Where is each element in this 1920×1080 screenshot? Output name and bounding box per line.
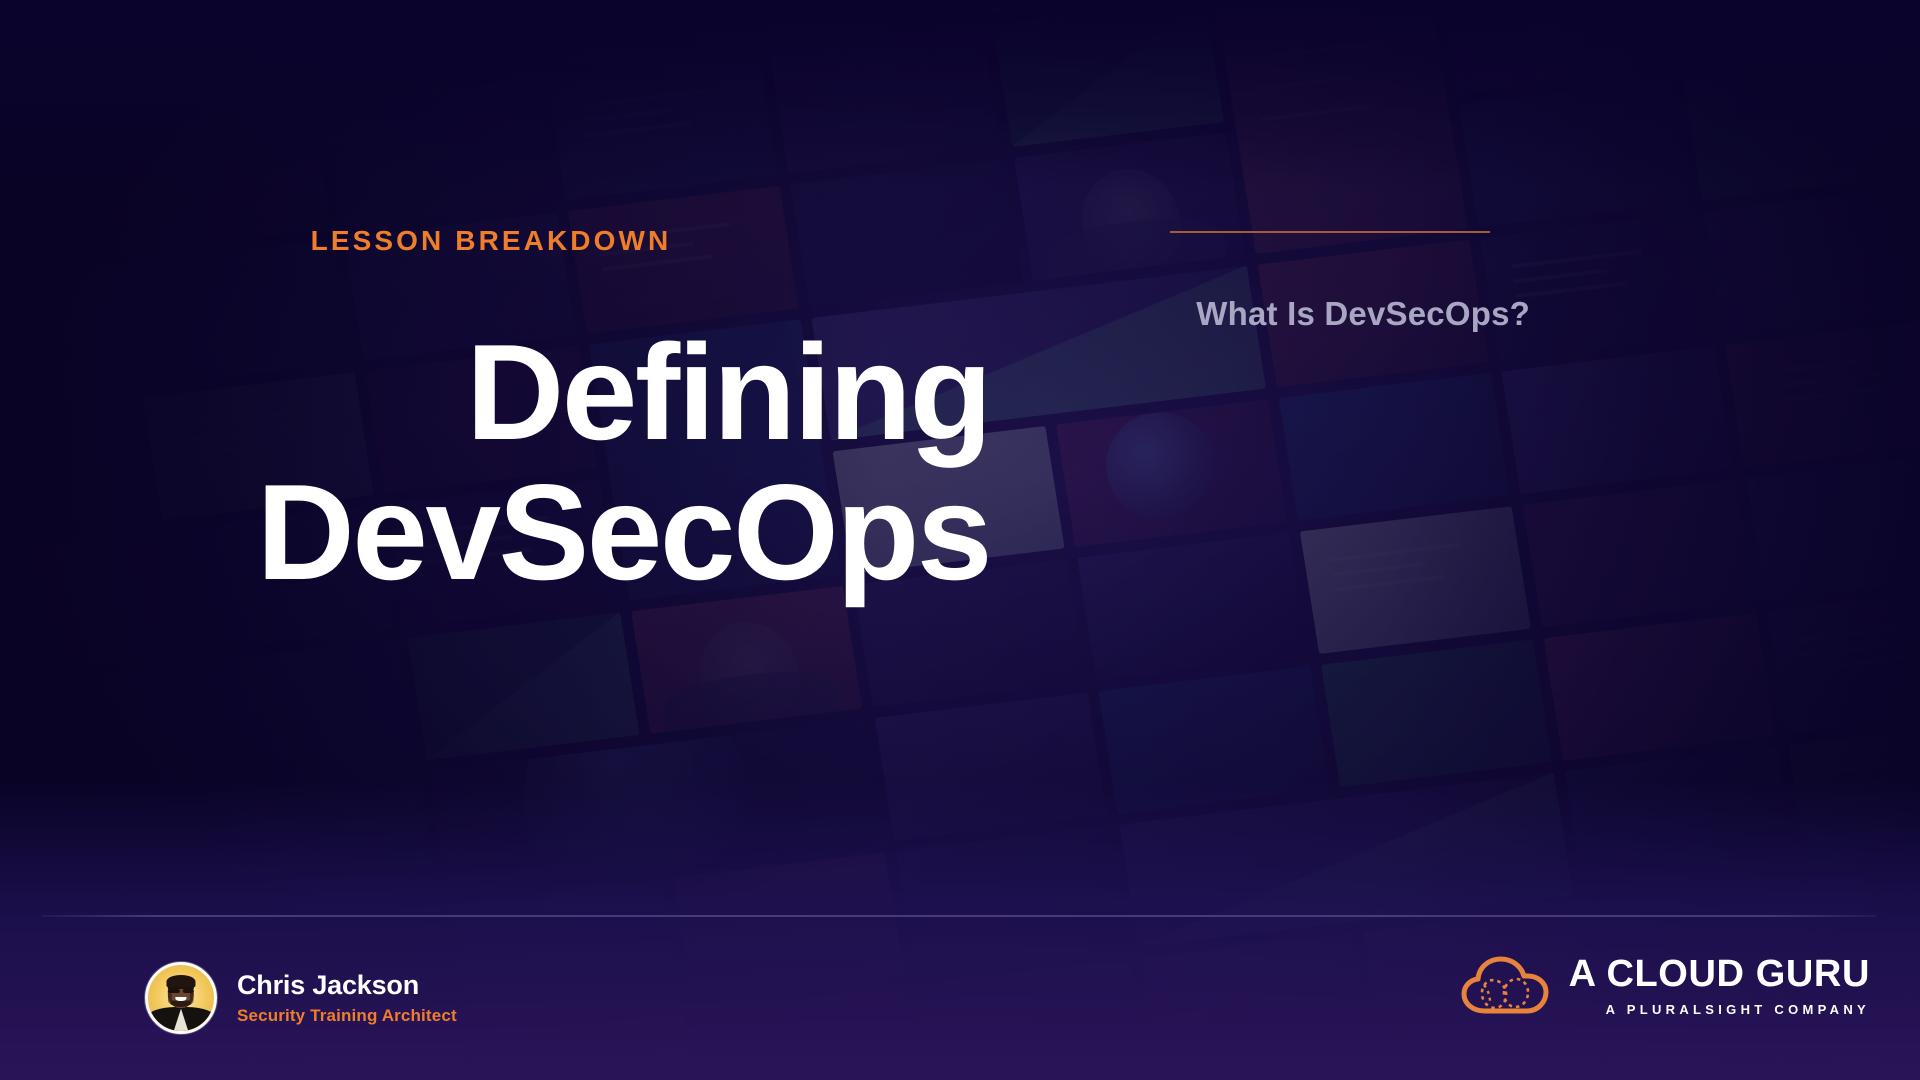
presenter-text: Chris Jackson Security Training Architec… <box>237 970 457 1026</box>
brand-tagline: A PLURALSIGHT COMPANY <box>1569 1002 1870 1017</box>
cloud-guru-logo-icon <box>1461 955 1549 1017</box>
presenter-name: Chris Jackson <box>237 970 457 1002</box>
avatar <box>145 962 217 1034</box>
brand-logo: A CLOUD GURU A PLURALSIGHT COMPANY <box>1461 955 1870 1017</box>
presenter-role: Security Training Architect <box>237 1006 457 1026</box>
footer-divider <box>42 915 1876 917</box>
avatar-glasses-icon <box>168 987 194 993</box>
presentation-slide: LESSON BREAKDOWN Defining DevSecOps What… <box>0 0 1920 1080</box>
page-title-line-1: Defining <box>466 316 990 468</box>
section-rule <box>1170 231 1490 233</box>
section-subheading: What Is DevSecOps? <box>1090 295 1530 333</box>
page-title: Defining DevSecOps <box>0 322 990 602</box>
slide-content: LESSON BREAKDOWN Defining DevSecOps What… <box>0 0 1920 1080</box>
eyebrow-label: LESSON BREAKDOWN <box>0 225 982 257</box>
avatar-smile-shape <box>175 997 186 1002</box>
brand-name: A CLOUD GURU <box>1569 955 1870 993</box>
page-title-line-2: DevSecOps <box>0 462 990 602</box>
presenter-credit: Chris Jackson Security Training Architec… <box>145 962 457 1034</box>
brand-logo-text: A CLOUD GURU A PLURALSIGHT COMPANY <box>1569 955 1870 1017</box>
